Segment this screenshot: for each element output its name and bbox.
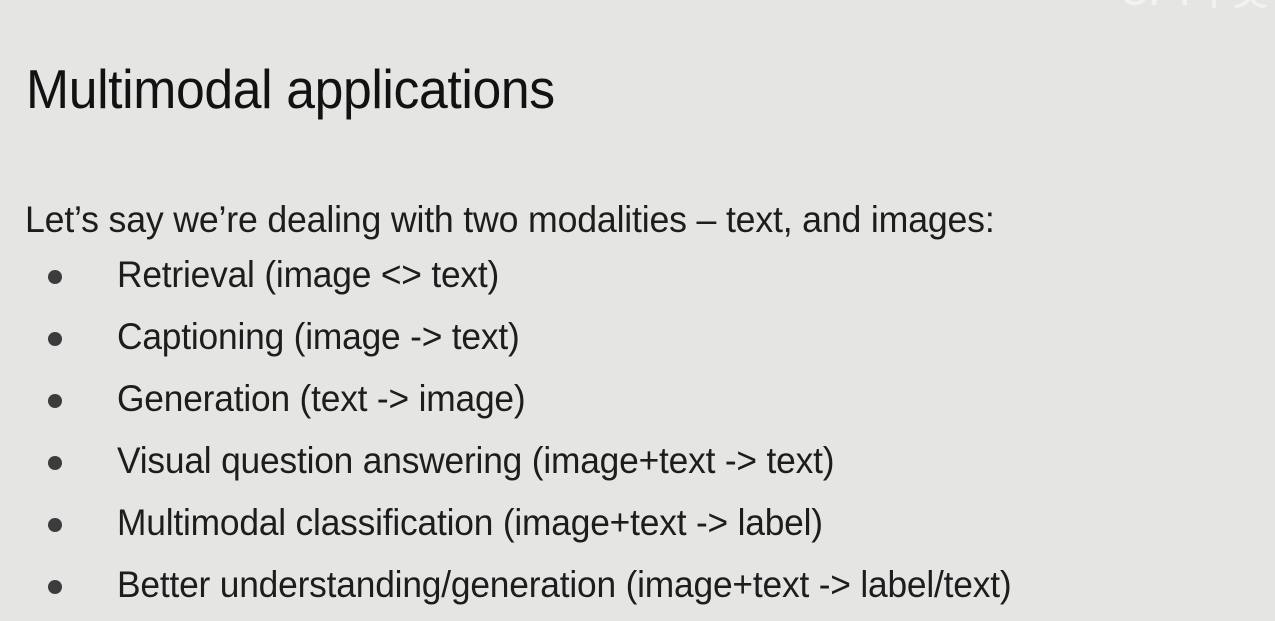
- list-item-label: Better understanding/generation (image+t…: [117, 559, 1011, 611]
- bullet-dot-icon: [48, 332, 62, 346]
- bullet-dot-icon: [48, 270, 62, 284]
- watermark-text: GPT中英: [1121, 0, 1269, 11]
- list-item-label: Multimodal classification (image+text ->…: [117, 497, 823, 549]
- presentation-slide: GPT中英 Multimodal applications Let’s say …: [0, 0, 1275, 607]
- list-item-label: Captioning (image -> text): [117, 311, 520, 363]
- list-item-label: Retrieval (image <> text): [117, 249, 499, 301]
- bullet-list: Retrieval (image <> text) Captioning (im…: [0, 249, 1275, 621]
- list-item: Better understanding/generation (image+t…: [0, 559, 1275, 621]
- list-item: Generation (text -> image): [0, 373, 1275, 435]
- intro-paragraph: Let’s say we’re dealing with two modalit…: [25, 197, 995, 243]
- list-item: Multimodal classification (image+text ->…: [0, 497, 1275, 559]
- bullet-dot-icon: [48, 518, 62, 532]
- slide-title: Multimodal applications: [26, 58, 555, 120]
- list-item: Visual question answering (image+text ->…: [0, 435, 1275, 497]
- list-item-label: Visual question answering (image+text ->…: [117, 435, 834, 487]
- list-item: Retrieval (image <> text): [0, 249, 1275, 311]
- list-item-label: Generation (text -> image): [117, 373, 525, 425]
- list-item: Captioning (image -> text): [0, 311, 1275, 373]
- bullet-dot-icon: [48, 394, 62, 408]
- bullet-dot-icon: [48, 580, 62, 594]
- bullet-dot-icon: [48, 456, 62, 470]
